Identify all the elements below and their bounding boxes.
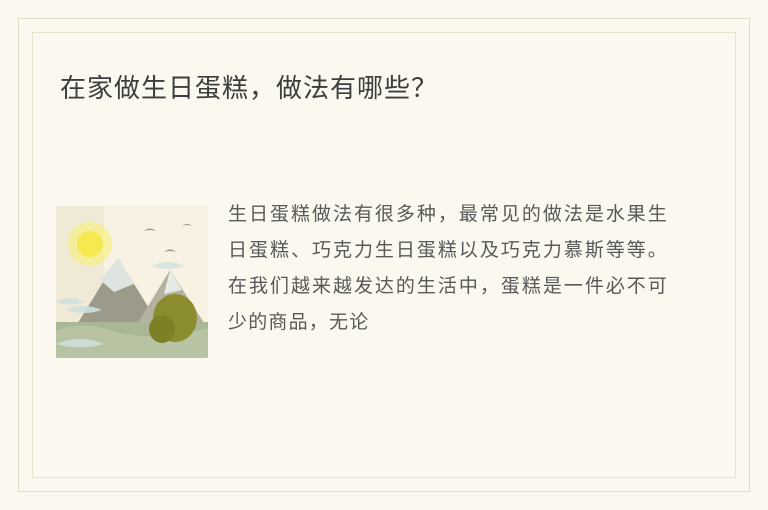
mountain-landscape-illustration (56, 206, 208, 358)
article-thumbnail (56, 206, 208, 358)
article-paragraph: 生日蛋糕做法有很多种，最常见的做法是水果生日蛋糕、巧克力生日蛋糕以及巧克力慕斯等… (228, 196, 668, 340)
article-body: 生日蛋糕做法有很多种，最常见的做法是水果生日蛋糕、巧克力生日蛋糕以及巧克力慕斯等… (228, 196, 668, 340)
document-page: 在家做生日蛋糕，做法有哪些？ (0, 0, 768, 510)
page-title: 在家做生日蛋糕，做法有哪些？ (60, 68, 438, 105)
